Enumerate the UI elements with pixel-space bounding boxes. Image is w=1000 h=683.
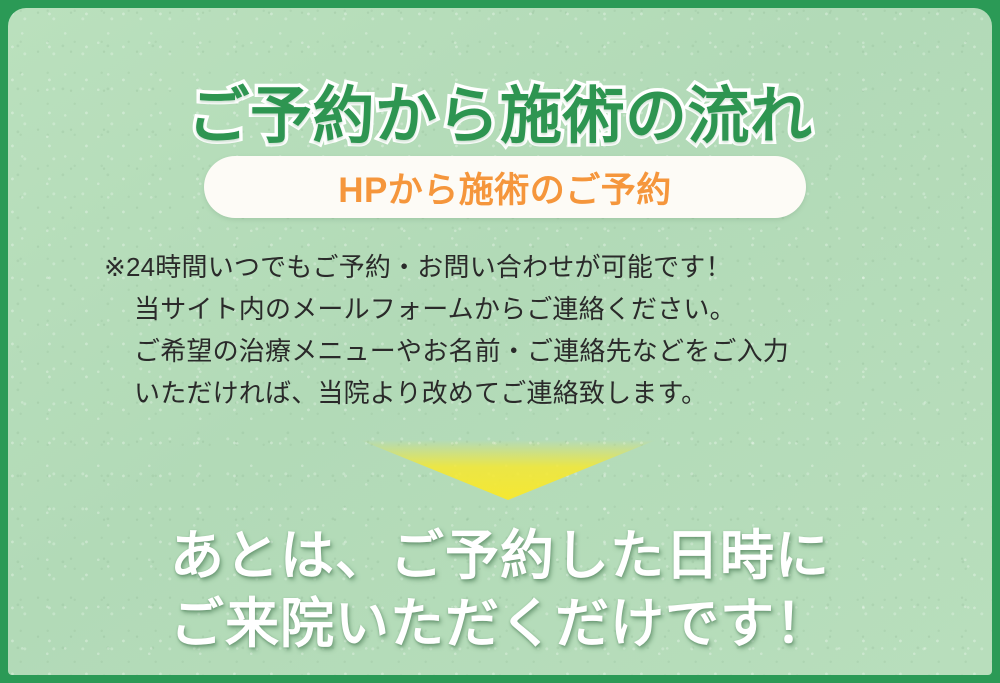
body-copy: ※24時間いつでもご予約・お問い合わせが可能です！ 当サイト内のメールフォームか… (104, 246, 924, 414)
page-frame: ご予約から施術の流れ HPから施術のご予約 ※24時間いつでもご予約・お問い合わ… (0, 0, 1000, 683)
body-line-3: ご希望の治療メニューやお名前・ご連絡先などをご入力 (104, 330, 924, 372)
closing-headline-line-2: ご来院いただくだけです！ (8, 590, 992, 658)
closing-headline: あとは、ご予約した日時に ご来院いただくだけです！ (8, 522, 992, 658)
body-line-1: ※24時間いつでもご予約・お問い合わせが可能です！ (104, 246, 924, 288)
reservation-pill-button[interactable]: HPから施術のご予約 (204, 156, 806, 218)
reservation-pill-label: HPから施術のご予約 (338, 162, 672, 213)
down-arrow-triangle-icon (360, 440, 656, 500)
content-panel: ご予約から施術の流れ HPから施術のご予約 ※24時間いつでもご予約・お問い合わ… (8, 8, 992, 675)
body-line-2: 当サイト内のメールフォームからご連絡ください。 (104, 288, 924, 330)
body-line-4: いただければ、当院より改めてご連絡致します。 (104, 372, 924, 414)
closing-headline-line-1: あとは、ご予約した日時に (8, 522, 992, 590)
down-arrow (360, 440, 656, 500)
page-title: ご予約から施術の流れ (8, 84, 992, 149)
